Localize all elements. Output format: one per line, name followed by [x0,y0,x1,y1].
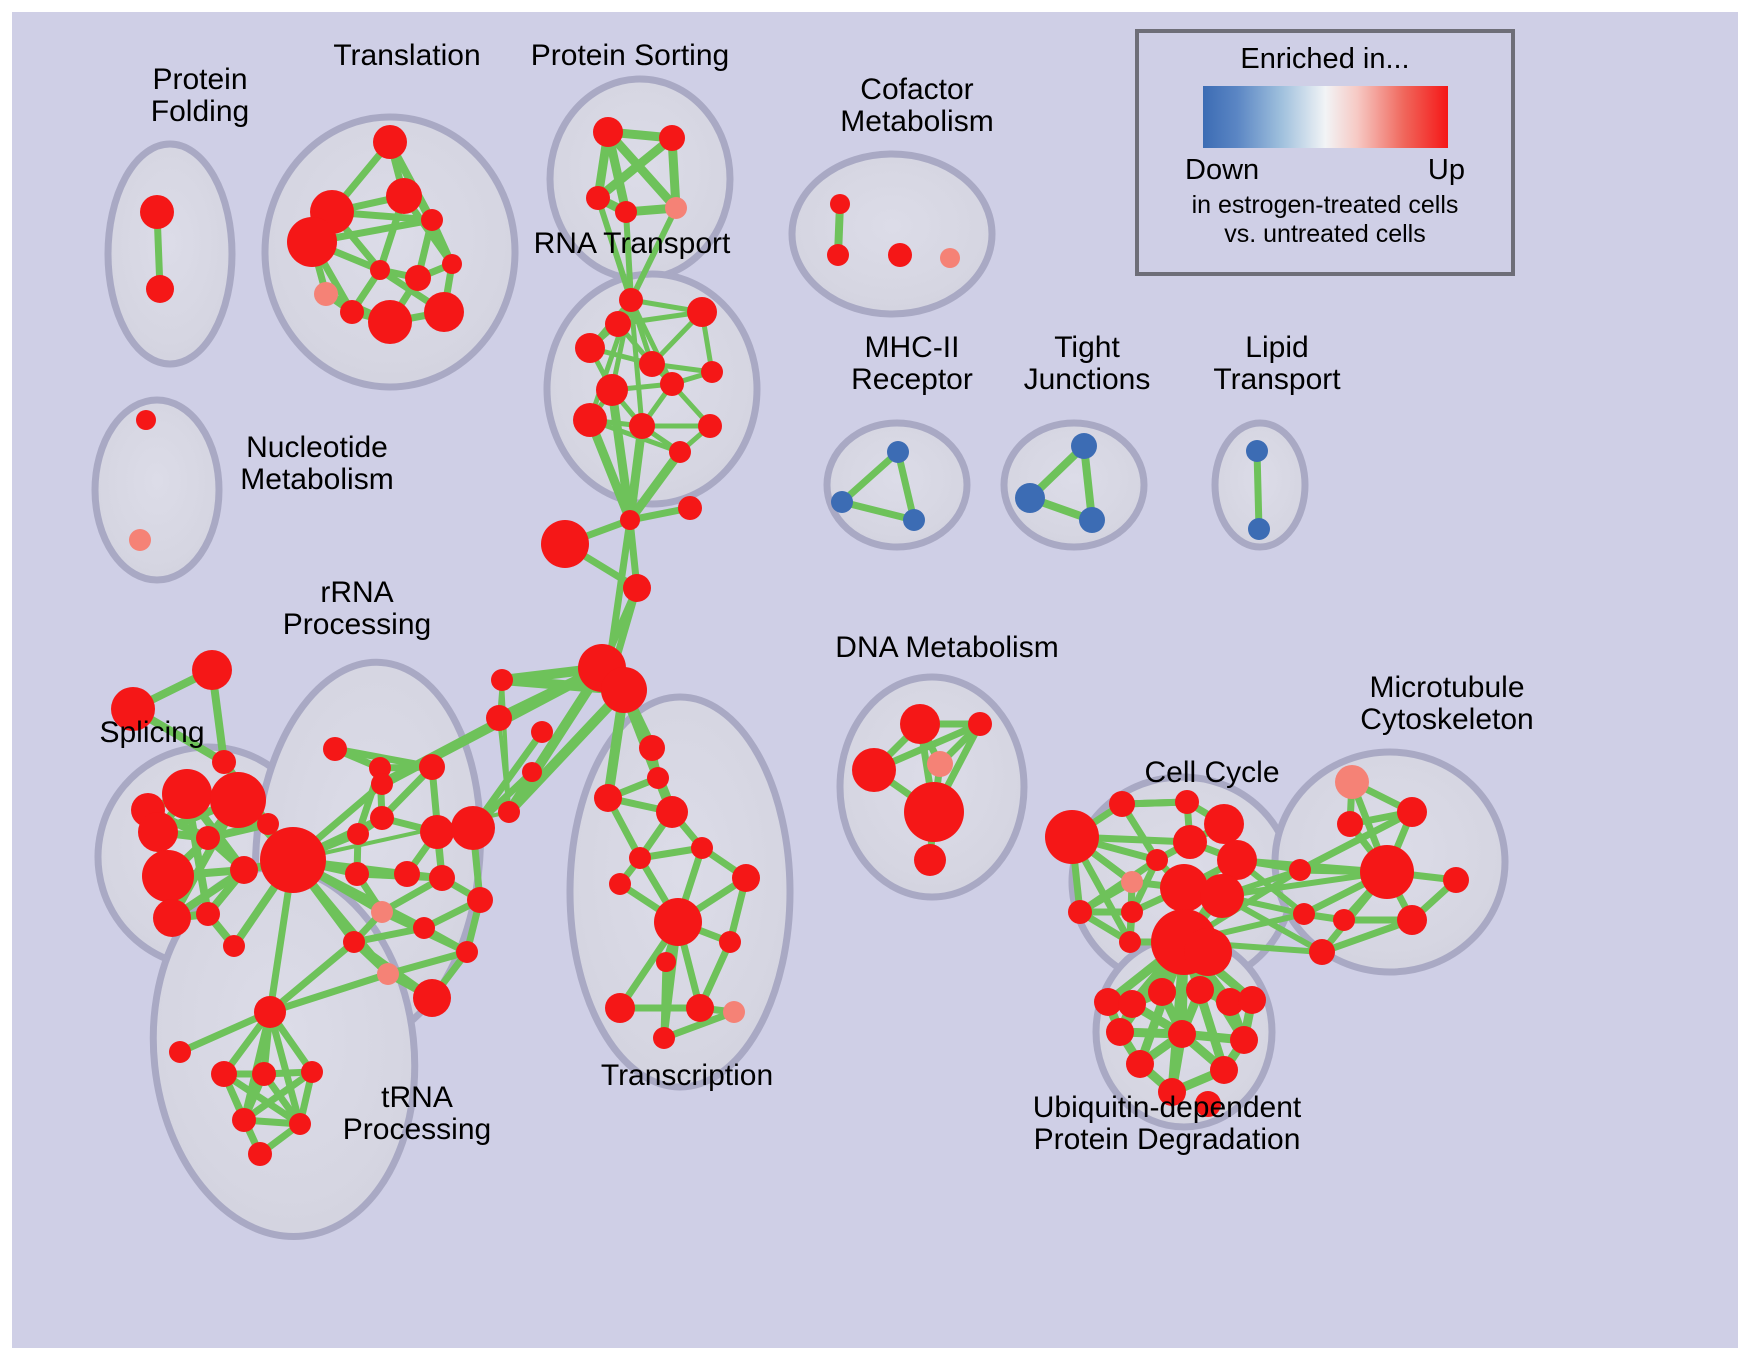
hull-protein-folding [108,144,232,364]
node [345,862,369,886]
node [1118,990,1146,1018]
node [1160,864,1208,912]
node [370,806,394,830]
node [904,782,964,842]
node [573,403,607,437]
node [146,275,174,303]
node [429,865,455,891]
node [827,244,849,266]
node [656,952,676,972]
node [162,769,212,819]
node [541,520,589,568]
node [900,704,940,744]
node [467,887,493,913]
node [596,374,628,406]
node [1079,507,1105,533]
node [601,667,647,713]
node [732,864,760,892]
node [659,125,685,151]
node [252,1062,276,1086]
node [1119,931,1141,953]
node [615,201,637,223]
node [653,1027,675,1049]
node [656,796,688,828]
node [301,1061,323,1083]
node [323,737,347,761]
node [260,827,326,893]
node [903,509,925,531]
node [619,288,643,312]
node [451,806,495,850]
node [1397,905,1427,935]
node [701,361,723,383]
node [232,1108,256,1132]
node [691,837,713,859]
node [687,297,717,327]
node [660,372,684,396]
node [940,248,960,268]
node [719,931,741,953]
node [456,941,478,963]
node [347,823,369,845]
legend-panel: Enriched in... Down Up in estrogen-treat… [1135,29,1515,276]
node [140,195,174,229]
node [678,496,702,520]
node [421,209,443,231]
node [1158,1078,1186,1106]
node [212,750,236,774]
node [1148,978,1176,1006]
node [1015,483,1045,513]
node [1121,901,1143,923]
node [373,125,407,159]
node [888,243,912,267]
node [665,197,687,219]
node [647,767,669,789]
node [1230,1026,1258,1054]
node [153,899,191,937]
node [1175,790,1199,814]
node [424,292,464,332]
legend-color-bar [1203,86,1448,148]
node [498,801,520,823]
node [1335,765,1369,799]
node [314,282,338,306]
node [1289,859,1311,881]
node [1106,1018,1134,1046]
node [196,902,220,926]
legend-high-label: Up [1428,154,1465,187]
hull-cofactor [792,154,992,314]
node [405,265,431,291]
node [830,194,850,214]
legend-caption: in estrogen-treated cells vs. untreated … [1192,191,1459,249]
node [129,529,151,551]
node [654,898,702,946]
node [1360,845,1414,899]
node [1121,871,1143,893]
node [491,669,513,691]
legend-title: Enriched in... [1240,43,1409,76]
legend-endpoints: Down Up [1185,154,1465,187]
node [1094,988,1122,1016]
node [686,994,714,1022]
node [1217,840,1257,880]
node [698,414,722,438]
node [1337,811,1363,837]
node [248,1142,272,1166]
node [1333,909,1355,931]
node [1068,900,1092,924]
hull-rna-transport [547,274,757,504]
node [196,826,220,850]
node [1246,440,1268,462]
node [1195,1091,1221,1117]
node [210,772,266,828]
node [1210,1056,1238,1084]
node [723,1001,745,1023]
node [1293,903,1315,925]
node [371,901,393,923]
node [287,217,337,267]
node [289,1113,311,1135]
node [377,963,399,985]
node [629,847,651,869]
node [230,856,258,884]
node [1200,874,1244,918]
node [138,812,178,852]
node [136,410,156,430]
node [623,574,651,602]
node [1168,1020,1196,1048]
node [609,873,631,895]
node [522,762,542,782]
legend-caption-line1: in estrogen-treated cells [1192,191,1459,220]
node [254,996,286,1028]
node [1126,1050,1154,1078]
node [1248,518,1270,540]
node [442,254,462,274]
node [257,813,279,835]
node [639,351,665,377]
node [370,260,390,280]
node [1109,791,1135,817]
node [111,687,155,731]
node [169,1041,191,1063]
node [1045,810,1099,864]
node [831,491,853,513]
node [394,861,420,887]
node [1071,433,1097,459]
node [420,815,454,849]
node [1184,928,1232,976]
node [211,1061,237,1087]
node [368,300,412,344]
node [605,993,635,1023]
node [575,333,605,363]
node [386,178,422,214]
node [927,751,953,777]
node [531,721,553,743]
node [1186,976,1214,1004]
legend-caption-line2: vs. untreated cells [1192,220,1459,249]
node [1397,797,1427,827]
node [343,931,365,953]
node [419,754,445,780]
legend-low-label: Down [1185,154,1259,187]
hull-protein-sorting [550,79,730,279]
node [340,300,364,324]
node [593,117,623,147]
node [1204,804,1244,844]
node [669,441,691,463]
node [142,850,194,902]
node [914,844,946,876]
node [968,712,992,736]
node [223,935,245,957]
node [413,917,435,939]
node [1309,939,1335,965]
hull-nucleotide [95,400,219,580]
node [605,311,631,337]
node [486,705,512,731]
node [594,784,622,812]
figure-root: Protein Folding Translation Protein Sort… [0,0,1750,1360]
node [413,979,451,1017]
node [629,413,655,439]
node [192,650,232,690]
node [887,441,909,463]
node [620,510,640,530]
network-canvas: Protein Folding Translation Protein Sort… [12,12,1738,1348]
node [1173,825,1207,859]
node [639,735,665,761]
node [371,773,393,795]
node [852,748,896,792]
node [1238,986,1266,1014]
node [1146,849,1168,871]
node [1443,867,1469,893]
node [586,186,610,210]
